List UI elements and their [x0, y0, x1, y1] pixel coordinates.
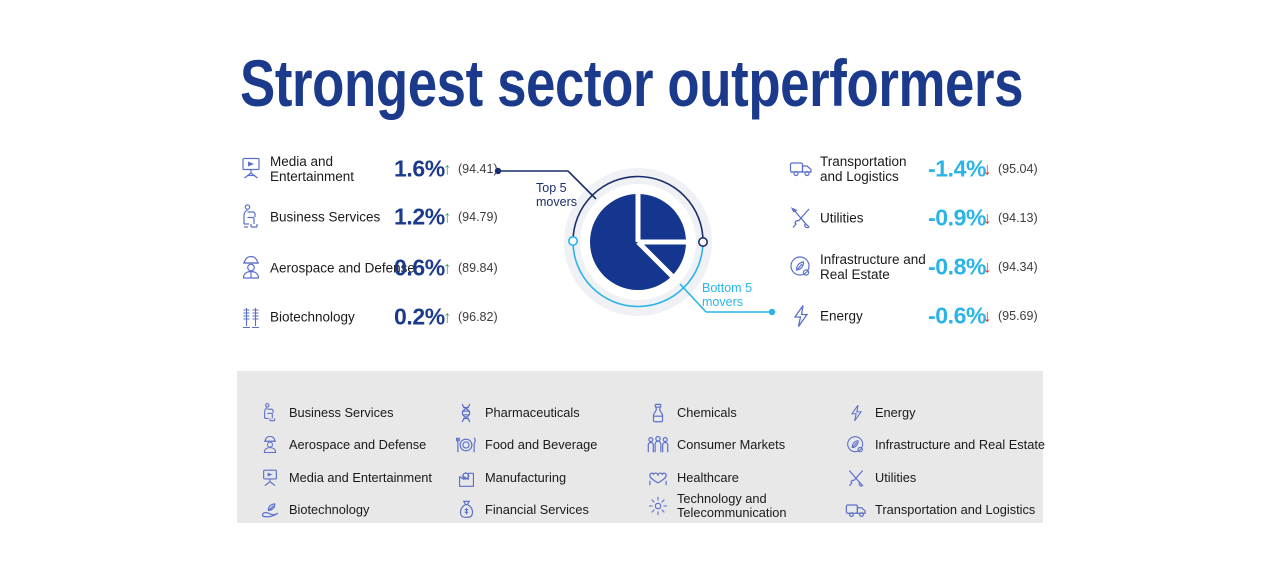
arrow-up-icon: ↑: [443, 209, 452, 226]
shopping-people-icon: [647, 434, 669, 456]
bottom-movers-label: Bottom 5 movers: [702, 281, 752, 309]
legend-label: Energy: [875, 406, 916, 420]
legend-item[interactable]: Financial Services: [455, 497, 589, 523]
stat-value: 0.2%: [394, 304, 445, 331]
right-arc-node: [699, 238, 707, 246]
stat-row[interactable]: Energy -0.6% ↓ (95.69): [788, 293, 1058, 339]
arrow-up-icon: ↑: [443, 161, 452, 178]
stat-row[interactable]: Transportation and Logistics -1.4% ↓ (95…: [788, 146, 1058, 192]
sector-legend-panel: Business Services Aerospace and Defense: [237, 371, 1043, 523]
lightning-bolt-icon: [845, 402, 867, 424]
stat-value: -0.8%: [928, 254, 986, 281]
person-at-desk-icon: [238, 202, 264, 232]
arrow-up-icon: ↑: [443, 260, 452, 277]
stat-label: Infrastructure and Real Estate: [820, 252, 926, 282]
money-bag-icon: [455, 499, 477, 521]
legend-label: Chemicals: [677, 406, 737, 420]
projector-screen-icon: [259, 467, 281, 489]
pie-chart: [590, 192, 688, 290]
legend-item[interactable]: Biotechnology: [259, 497, 369, 523]
stat-index-value: (94.13): [998, 211, 1038, 225]
legend-item[interactable]: Manufacturing: [455, 465, 566, 491]
legend-item[interactable]: Chemicals: [647, 400, 737, 426]
legend-label: Manufacturing: [485, 471, 566, 485]
stat-label: Biotechnology: [270, 310, 355, 325]
legend-label: Business Services: [289, 406, 394, 420]
legend-label: Healthcare: [677, 471, 739, 485]
stat-label: Transportation and Logistics: [820, 154, 907, 184]
plate-cutlery-icon: [455, 434, 477, 456]
flask-icon: [647, 402, 669, 424]
truck-icon: [788, 154, 814, 184]
projector-screen-icon: [238, 154, 264, 184]
arrow-down-icon: ↓: [983, 308, 992, 325]
legend-item[interactable]: Energy: [845, 400, 916, 426]
legend-item[interactable]: Food and Beverage: [455, 432, 597, 458]
stat-label: Business Services: [270, 210, 380, 225]
legend-label: Transportation and Logistics: [875, 503, 1035, 517]
helmet-worker-icon: [259, 434, 281, 456]
leaf-circle-icon: [845, 434, 867, 456]
legend-item[interactable]: Media and Entertainment: [259, 465, 432, 491]
lightning-bolt-icon: [788, 301, 814, 331]
page-title: Strongest sector outperformers: [240, 44, 1023, 122]
legend-label: Consumer Markets: [677, 438, 785, 452]
stat-label: Utilities: [820, 211, 864, 226]
helmet-worker-icon: [238, 253, 264, 283]
legend-label: Pharmaceuticals: [485, 406, 580, 420]
arrow-down-icon: ↓: [983, 161, 992, 178]
legend-item[interactable]: Consumer Markets: [647, 432, 785, 458]
left-arc-node: [569, 237, 577, 245]
stat-value: -0.9%: [928, 205, 986, 232]
stat-value: 1.6%: [394, 156, 445, 183]
stat-value: -1.4%: [928, 156, 986, 183]
stat-label: Energy: [820, 309, 863, 324]
legend-item[interactable]: Aerospace and Defense: [259, 432, 426, 458]
stat-row[interactable]: Utilities -0.9% ↓ (94.13): [788, 195, 1058, 241]
stat-row[interactable]: Infrastructure and Real Estate -0.8% ↓ (…: [788, 244, 1058, 290]
legend-label: Infrastructure and Real Estate: [875, 438, 1045, 452]
legend-label: Utilities: [875, 471, 916, 485]
truck-icon: [845, 499, 867, 521]
legend-item[interactable]: Transportation and Logistics: [845, 497, 1035, 523]
legend-label: Aerospace and Defense: [289, 438, 426, 452]
legend-label: Media and Entertainment: [289, 471, 432, 485]
heart-hands-icon: [647, 467, 669, 489]
crossed-tools-icon: [845, 467, 867, 489]
top-connector-dot: [495, 168, 501, 174]
legend-label: Financial Services: [485, 503, 589, 517]
wheat-stalks-icon: [238, 302, 264, 332]
center-pie-graphic: Top 5 movers Bottom 5 movers: [490, 150, 790, 340]
arrow-up-icon: ↑: [443, 309, 452, 326]
stat-value: -0.6%: [928, 303, 986, 330]
legend-label: Technology and Telecommunication: [677, 492, 787, 520]
network-node-icon: [647, 495, 669, 517]
arrow-down-icon: ↓: [983, 259, 992, 276]
stat-value: 0.6%: [394, 255, 445, 282]
top-movers-label: Top 5 movers: [536, 181, 577, 209]
dna-icon: [455, 402, 477, 424]
infographic-canvas: Strongest sector outperformers Media and…: [0, 0, 1279, 579]
stat-index-value: (95.69): [998, 309, 1038, 323]
legend-item[interactable]: Healthcare: [647, 465, 739, 491]
legend-item[interactable]: Technology and Telecommunication: [647, 493, 787, 519]
stat-value: 1.2%: [394, 204, 445, 231]
leaf-circle-icon: [788, 252, 814, 282]
hand-leaf-icon: [259, 499, 281, 521]
legend-label: Biotechnology: [289, 503, 369, 517]
bottom-connector-dot: [769, 309, 775, 315]
crossed-tools-icon: [788, 203, 814, 233]
factory-gear-icon: [455, 467, 477, 489]
legend-item[interactable]: Pharmaceuticals: [455, 400, 580, 426]
stat-index-value: (95.04): [998, 162, 1038, 176]
legend-item[interactable]: Utilities: [845, 465, 916, 491]
person-at-desk-icon: [259, 402, 281, 424]
arrow-down-icon: ↓: [983, 210, 992, 227]
legend-label: Food and Beverage: [485, 438, 597, 452]
legend-item[interactable]: Infrastructure and Real Estate: [845, 432, 1045, 458]
stat-index-value: (94.34): [998, 260, 1038, 274]
legend-item[interactable]: Business Services: [259, 400, 394, 426]
bottom-movers-list: Transportation and Logistics -1.4% ↓ (95…: [788, 146, 1058, 336]
stat-label: Media and Entertainment: [270, 154, 354, 184]
